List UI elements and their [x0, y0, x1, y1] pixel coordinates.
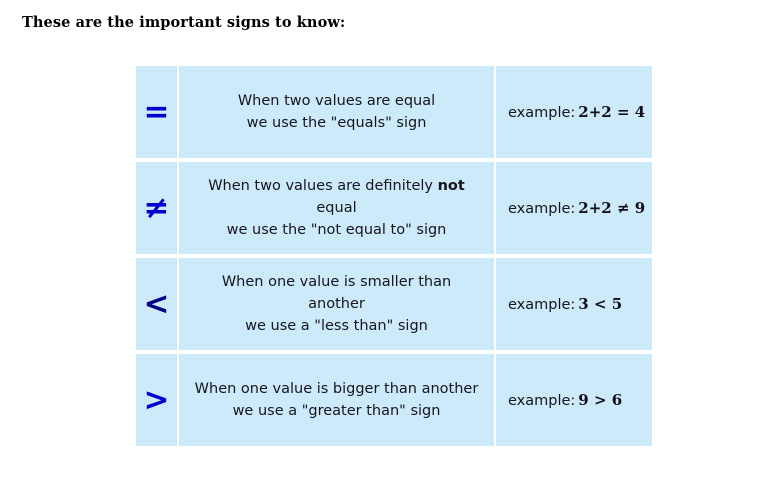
example-label: example: — [508, 393, 575, 409]
example-text: example:3 < 5 — [496, 294, 652, 315]
less-than-sign-icon: < — [136, 289, 177, 320]
signs-table-body: = When two values are equalwe use the "e… — [136, 66, 652, 446]
description-cell-greater-than: When one value is bigger than anotherwe … — [179, 354, 494, 446]
example-label: example: — [508, 201, 575, 217]
example-text: example:2+2 = 4 — [496, 102, 652, 123]
description-line-2: we use the "not equal to" sign — [227, 222, 447, 238]
example-label: example: — [508, 105, 575, 121]
table-row: < When one value is smaller than another… — [136, 258, 652, 350]
description-text: When two values are equalwe use the "equ… — [179, 90, 494, 134]
description-text: When one value is bigger than anotherwe … — [179, 378, 494, 422]
description-text: When one value is smaller than anotherwe… — [179, 271, 494, 337]
example-expression: 2+2 = 4 — [575, 103, 645, 121]
description-cell-less-than: When one value is smaller than anotherwe… — [179, 258, 494, 350]
not-equal-sign-icon: ≠ — [136, 193, 177, 224]
sign-cell-equals: = — [136, 66, 177, 158]
page-root: These are the important signs to know: =… — [0, 0, 779, 485]
example-cell-equals: example:2+2 = 4 — [496, 66, 652, 158]
greater-than-sign-icon: > — [136, 385, 177, 416]
example-expression: 9 > 6 — [575, 391, 622, 409]
page-title: These are the important signs to know: — [22, 14, 345, 31]
description-line-1-pre: When two values are definitely — [208, 178, 437, 194]
description-line-1: When one value is bigger than another — [195, 381, 479, 397]
description-line-2: we use the "equals" sign — [247, 115, 427, 131]
equals-sign-icon: = — [136, 97, 177, 128]
sign-cell-greater-than: > — [136, 354, 177, 446]
example-cell-not-equal: example:2+2 ≠ 9 — [496, 162, 652, 254]
sign-cell-not-equal: ≠ — [136, 162, 177, 254]
example-text: example:9 > 6 — [496, 390, 652, 411]
description-emphasis: not — [438, 178, 465, 194]
description-line-2: we use a "less than" sign — [245, 318, 428, 334]
description-line-1: When one value is smaller than another — [222, 274, 451, 312]
description-cell-not-equal: When two values are definitely not equal… — [179, 162, 494, 254]
example-cell-greater-than: example:9 > 6 — [496, 354, 652, 446]
example-expression: 2+2 ≠ 9 — [575, 199, 645, 217]
description-cell-equals: When two values are equalwe use the "equ… — [179, 66, 494, 158]
example-text: example:2+2 ≠ 9 — [496, 198, 652, 219]
description-line-1-post: equal — [316, 200, 356, 216]
table-row: = When two values are equalwe use the "e… — [136, 66, 652, 158]
example-label: example: — [508, 297, 575, 313]
example-cell-less-than: example:3 < 5 — [496, 258, 652, 350]
description-text: When two values are definitely not equal… — [179, 175, 494, 241]
sign-cell-less-than: < — [136, 258, 177, 350]
description-line-1: When two values are equal — [238, 93, 435, 109]
table-row: ≠ When two values are definitely not equ… — [136, 162, 652, 254]
signs-table: = When two values are equalwe use the "e… — [134, 62, 654, 450]
description-line-2: we use a "greater than" sign — [233, 403, 441, 419]
example-expression: 3 < 5 — [575, 295, 622, 313]
table-row: > When one value is bigger than anotherw… — [136, 354, 652, 446]
